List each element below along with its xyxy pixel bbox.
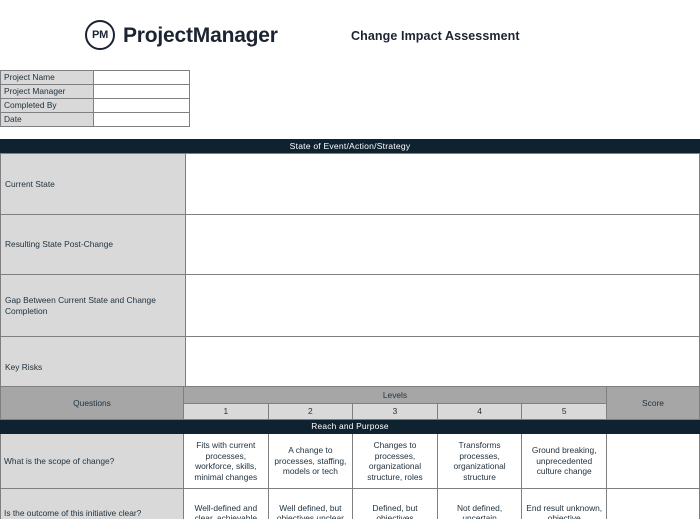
info-field-project-name[interactable] bbox=[94, 71, 190, 85]
table-row: Gap Between Current State and Change Com… bbox=[1, 275, 700, 337]
group-band-label: Reach and Purpose bbox=[1, 420, 700, 434]
info-field-project-manager[interactable] bbox=[94, 85, 190, 99]
level-header-1: 1 bbox=[184, 404, 269, 420]
assessment-table-body: Questions Levels Score 1 2 3 4 5 Reach a… bbox=[1, 387, 700, 519]
assessment-header-row-top: Questions Levels Score bbox=[1, 387, 700, 404]
project-info-table: Project Name Project Manager Completed B… bbox=[0, 70, 190, 127]
state-label-current-state: Current State bbox=[1, 154, 186, 215]
table-row: Project Manager bbox=[1, 85, 190, 99]
state-field-current-state[interactable] bbox=[186, 154, 700, 215]
column-header-levels: Levels bbox=[184, 387, 607, 404]
level-header-2: 2 bbox=[268, 404, 353, 420]
state-label-resulting-state: Resulting State Post-Change bbox=[1, 215, 186, 275]
question-option-1[interactable]: Well-defined and clear, achievable bbox=[184, 489, 269, 519]
question-label-outcome-clear: Is the outcome of this initiative clear? bbox=[1, 489, 184, 519]
brand-name: ProjectManager bbox=[123, 25, 278, 46]
info-label-project-manager: Project Manager bbox=[1, 85, 94, 99]
column-header-score: Score bbox=[607, 387, 700, 420]
table-row: Date bbox=[1, 113, 190, 127]
change-impact-assessment-page: PM ProjectManager Change Impact Assessme… bbox=[0, 0, 700, 519]
column-header-questions: Questions bbox=[1, 387, 184, 420]
level-header-4: 4 bbox=[437, 404, 522, 420]
state-label-gap: Gap Between Current State and Change Com… bbox=[1, 275, 186, 337]
pm-circle-logo-icon: PM bbox=[85, 20, 115, 50]
brand-mark-text: PM bbox=[92, 30, 108, 41]
state-section-band: State of Event/Action/Strategy bbox=[0, 139, 700, 153]
table-row: What is the scope of change? Fits with c… bbox=[1, 434, 700, 489]
level-header-3: 3 bbox=[353, 404, 438, 420]
question-option-4[interactable]: Not defined, uncertain bbox=[437, 489, 522, 519]
info-field-completed-by[interactable] bbox=[94, 99, 190, 113]
info-label-completed-by: Completed By bbox=[1, 99, 94, 113]
question-option-2[interactable]: A change to processes, staffing, models … bbox=[268, 434, 353, 489]
question-option-4[interactable]: Transforms processes, organizational str… bbox=[437, 434, 522, 489]
info-label-project-name: Project Name bbox=[1, 71, 94, 85]
assessment-table: Questions Levels Score 1 2 3 4 5 Reach a… bbox=[0, 386, 700, 519]
question-option-5[interactable]: Ground breaking, unprecedented culture c… bbox=[522, 434, 607, 489]
question-option-3[interactable]: Changes to processes, organizational str… bbox=[353, 434, 438, 489]
table-row: Completed By bbox=[1, 99, 190, 113]
brand-logo: PM ProjectManager bbox=[85, 20, 278, 50]
question-option-2[interactable]: Well defined, but objectives unclear bbox=[268, 489, 353, 519]
page-title: Change Impact Assessment bbox=[351, 29, 520, 43]
level-header-5: 5 bbox=[522, 404, 607, 420]
table-row: Resulting State Post-Change bbox=[1, 215, 700, 275]
question-score-field[interactable] bbox=[607, 434, 700, 489]
question-option-3[interactable]: Defined, but objectives bbox=[353, 489, 438, 519]
project-info-body: Project Name Project Manager Completed B… bbox=[1, 71, 190, 127]
table-row: Project Name bbox=[1, 71, 190, 85]
info-field-date[interactable] bbox=[94, 113, 190, 127]
question-label-scope-of-change: What is the scope of change? bbox=[1, 434, 184, 489]
info-label-date: Date bbox=[1, 113, 94, 127]
table-row: Current State bbox=[1, 154, 700, 215]
question-score-field[interactable] bbox=[607, 489, 700, 519]
table-row: Is the outcome of this initiative clear?… bbox=[1, 489, 700, 519]
state-field-gap[interactable] bbox=[186, 275, 700, 337]
question-option-5[interactable]: End result unknown, objective bbox=[522, 489, 607, 519]
question-option-1[interactable]: Fits with current processes, workforce, … bbox=[184, 434, 269, 489]
state-field-resulting-state[interactable] bbox=[186, 215, 700, 275]
page-header: PM ProjectManager Change Impact Assessme… bbox=[0, 0, 700, 68]
group-band-reach-and-purpose: Reach and Purpose bbox=[1, 420, 700, 434]
state-table: Current State Resulting State Post-Chang… bbox=[0, 153, 700, 398]
state-table-body: Current State Resulting State Post-Chang… bbox=[1, 154, 700, 398]
